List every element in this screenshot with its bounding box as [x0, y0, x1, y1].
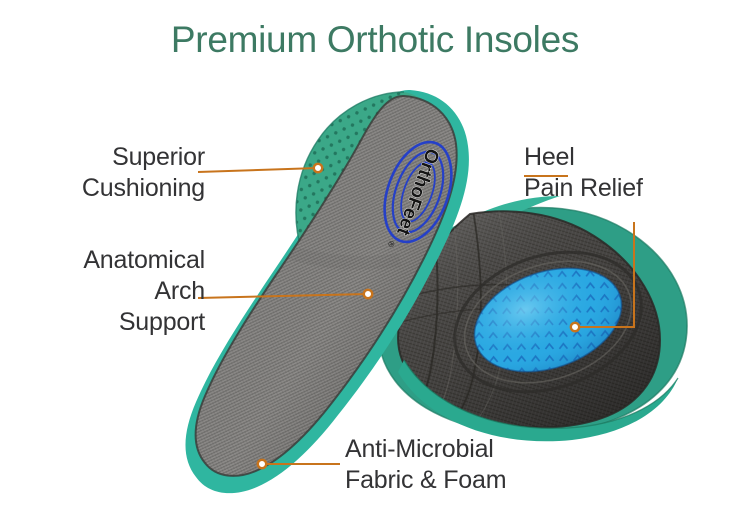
leader-dot-antimicrobial	[258, 460, 266, 468]
leader-line-arch	[198, 294, 368, 298]
leader-dot-heel	[571, 323, 579, 331]
orthofeet-logo: OrthoFeet ®	[369, 133, 464, 260]
callout-superior-cushioning: Superior Cushioning	[0, 142, 205, 204]
bottom-insole-upper-foam	[430, 196, 560, 276]
bottom-insole-rim-highlight	[398, 360, 678, 441]
leader-dot-cushioning	[314, 164, 322, 172]
leader-lines	[198, 168, 634, 464]
shell-contour-lines	[394, 204, 528, 424]
heel-cup-outer-ring	[436, 228, 661, 415]
leader-dot-arch	[364, 290, 372, 298]
heel-cup-inner-ring	[448, 240, 648, 404]
registered-mark: ®	[386, 240, 397, 249]
page-title: Premium Orthotic Insoles	[0, 18, 750, 62]
green-foam-heel-layer	[296, 92, 438, 252]
underside-facing-insole	[379, 196, 687, 441]
leader-line-heel	[575, 222, 634, 327]
top-insole-fabric	[196, 96, 457, 476]
callout-anti-microbial-fabric-foam: Anti-Microbial Fabric & Foam	[345, 434, 750, 496]
callout-anatomical-arch-support: Anatomical Arch Support	[0, 245, 205, 338]
leader-line-cushioning	[198, 168, 318, 172]
leader-dots	[258, 164, 579, 468]
heel-gel-pad	[461, 250, 636, 390]
orthofeet-logo-text: OrthoFeet	[392, 146, 443, 239]
bottom-insole-green-base	[379, 208, 687, 434]
infographic-canvas: OrthoFeet ® Premium Orthotic Insoles S	[0, 0, 750, 530]
callout-heel-pain-relief: Heel Pain Relief	[524, 142, 750, 204]
top-facing-insole: OrthoFeet ®	[185, 90, 468, 493]
bottom-insole-shell	[398, 211, 660, 427]
top-insole-teal-edge	[185, 90, 468, 493]
arch-shading	[280, 250, 400, 263]
